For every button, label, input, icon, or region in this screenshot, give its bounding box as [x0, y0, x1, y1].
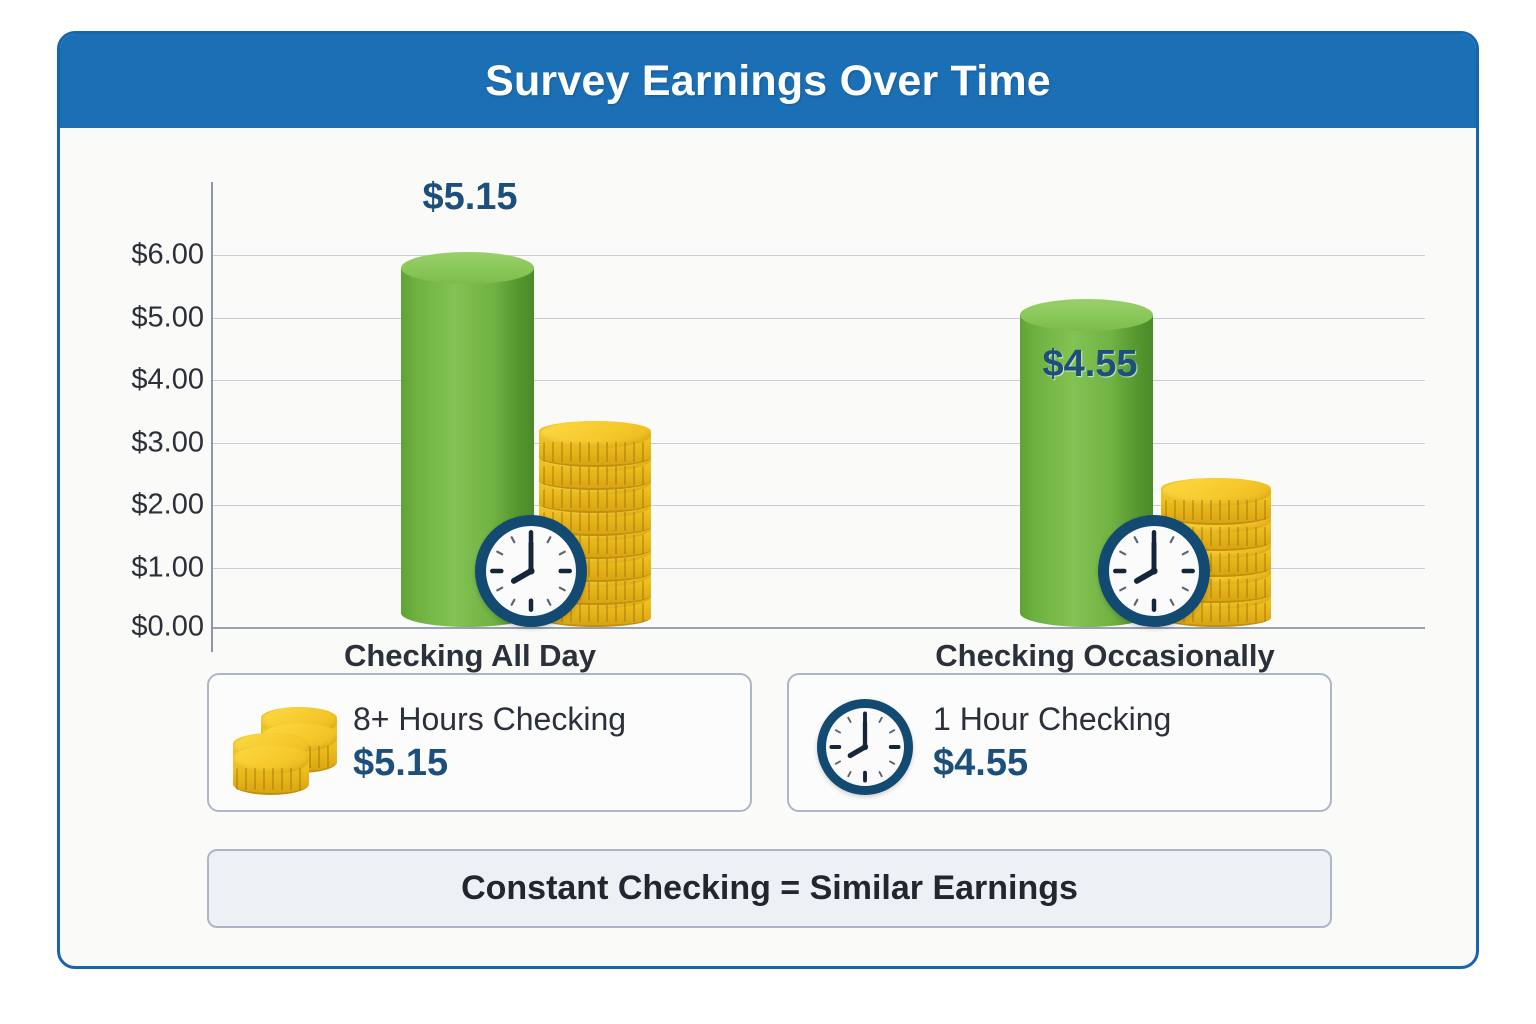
- y-tick-label-6: $6.00: [84, 239, 204, 272]
- y-tick-label-2: $2.00: [84, 489, 204, 522]
- gridline-6: [211, 255, 1425, 256]
- y-tick-label-3: $3.00: [84, 427, 204, 460]
- clock-icon-1: [475, 515, 587, 627]
- legend-card-value: $5.15: [353, 741, 626, 787]
- x-tick-label-checking-all-day: Checking All Day: [295, 638, 645, 674]
- gridline-3: [211, 443, 1425, 444]
- page-title: Survey Earnings Over Time: [485, 57, 1051, 106]
- legend-card-one-hour-checking[interactable]: 1 Hour Checking $4.55: [787, 673, 1332, 812]
- bar-top-ellipse: [1020, 299, 1153, 331]
- y-tick-label-1: $1.00: [84, 552, 204, 585]
- legend-card-text: 8+ Hours Checking $5.15: [353, 699, 626, 787]
- plot-area: $6.00 $5.00 $4.00 $3.00 $2.00 $1.00 $0.0…: [60, 128, 1476, 698]
- gridline-0: [211, 627, 1425, 629]
- legend-card-value: $4.55: [933, 741, 1171, 787]
- y-tick-label-4: $4.00: [84, 364, 204, 397]
- clock-icon-2: [1098, 515, 1210, 627]
- bar-top-ellipse: [401, 252, 534, 284]
- summary-banner-text: Constant Checking = Similar Earnings: [461, 869, 1078, 908]
- bar-value-label-2: $4.55: [1010, 343, 1170, 386]
- bar-value-label-1: $5.15: [390, 176, 550, 219]
- y-tick-label-5: $5.00: [84, 302, 204, 335]
- gridline-5: [211, 318, 1425, 319]
- clock-icon: [811, 693, 919, 793]
- summary-banner: Constant Checking = Similar Earnings: [207, 849, 1332, 928]
- legend-card-title: 8+ Hours Checking: [353, 699, 626, 739]
- chart-panel: Survey Earnings Over Time $6.00 $5.00 $4…: [57, 31, 1479, 969]
- gridline-4: [211, 380, 1425, 381]
- x-tick-label-checking-occasionally: Checking Occasionally: [905, 638, 1305, 674]
- legend-card-text: 1 Hour Checking $4.55: [933, 699, 1171, 787]
- y-tick-label-0: $0.00: [84, 611, 204, 644]
- y-axis-line: [211, 182, 213, 652]
- coins-icon: [231, 693, 339, 793]
- chart-header: Survey Earnings Over Time: [60, 34, 1476, 128]
- legend-card-hours-checking[interactable]: 8+ Hours Checking $5.15: [207, 673, 752, 812]
- legend-card-title: 1 Hour Checking: [933, 699, 1171, 739]
